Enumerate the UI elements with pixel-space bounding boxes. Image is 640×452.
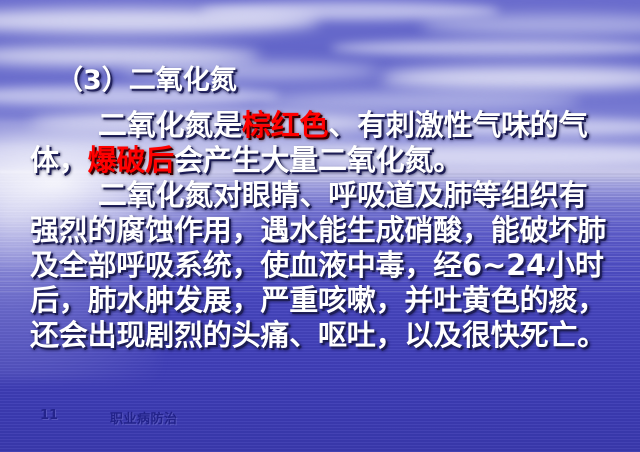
slide-title: （3）二氧化氮 [56,64,237,98]
slide-footer-label: 职业病防治 [110,408,178,427]
body-paragraph-2: 二氧化氮对眼睛、呼吸道及肺等组织有强烈的腐蚀作用，遇水能生成硝酸，能破坏肺及全部… [30,178,616,353]
highlighted-text-run: 爆破后 [88,143,174,177]
presentation-slide: （3）二氧化氮 二氧化氮是棕红色、有刺激性气味的气体，爆破后会产生大量二氧化氮。… [0,0,640,452]
text-run: 二氧化氮对眼睛、呼吸道及肺等组织有强烈的腐蚀作用，遇水能生成硝酸，能破坏肺及全部… [30,178,606,352]
text-run: 二氧化氮是 [98,108,242,142]
slide-page-number: 11 [40,408,58,423]
slide-content: （3）二氧化氮 二氧化氮是棕红色、有刺激性气味的气体，爆破后会产生大量二氧化氮。… [0,0,640,452]
slide-body: 二氧化氮是棕红色、有刺激性气味的气体，爆破后会产生大量二氧化氮。 二氧化氮对眼睛… [30,108,616,353]
highlighted-text-run: 棕红色 [242,108,328,142]
slide-footer: 11 职业病防治 [0,408,640,430]
body-paragraph-1: 二氧化氮是棕红色、有刺激性气味的气体，爆破后会产生大量二氧化氮。 [30,108,616,178]
text-run: 会产生大量二氧化氮。 [174,143,462,177]
